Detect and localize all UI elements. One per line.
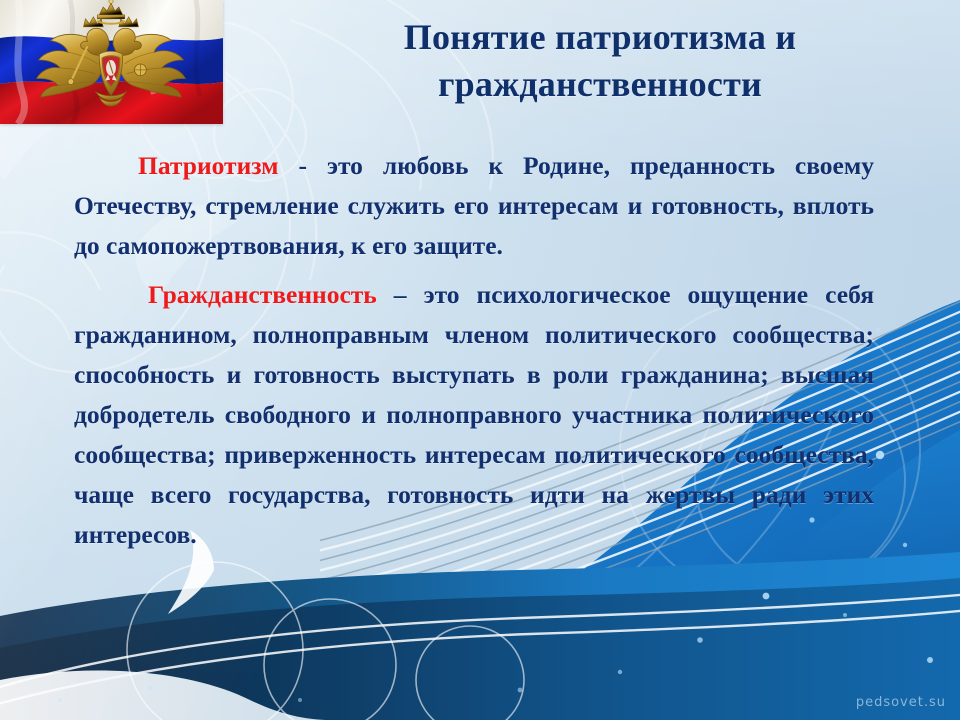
term-citizenship: Гражданственность [148,280,377,309]
paragraph-citizenship: Гражданственность – это психологическое … [74,275,874,555]
russian-flag-image [0,0,223,124]
title-line-1: Понятие патриотизма и [250,14,950,61]
title-line-2: гражданственности [250,61,950,108]
term-patriotism: Патриотизм [138,151,279,180]
slide: Понятие патриотизма и гражданственности … [0,0,960,720]
slide-title: Понятие патриотизма и гражданственности [250,14,950,108]
watermark: pedsovet.su [856,695,946,710]
paragraph-patriotism: Патриотизм - это любовь к Родине, предан… [74,146,874,266]
slide-body: Патриотизм - это любовь к Родине, предан… [74,146,874,564]
flag-graphic [0,0,223,124]
paragraph-citizenship-text: – это психологическое ощущение себя граж… [74,280,874,549]
